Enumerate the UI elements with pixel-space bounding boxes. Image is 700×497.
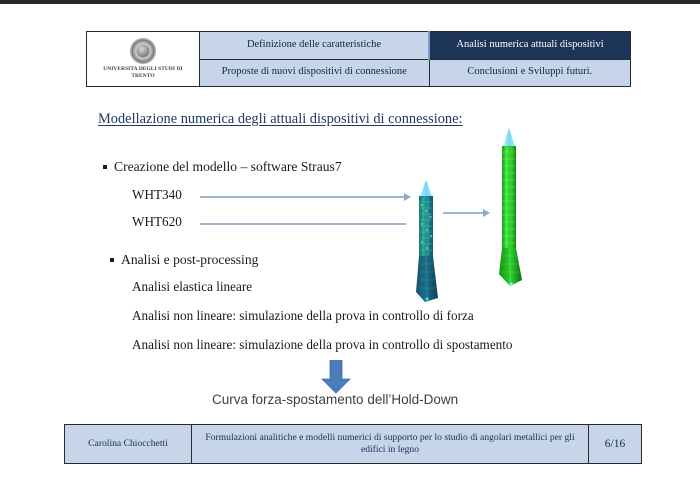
university-logo-cell: UNIVERSITA DEGLI STUDI DI TRENTO — [87, 32, 200, 87]
fem-model-wht340-image — [406, 180, 450, 302]
slide-title: Modellazione numerica degli attuali disp… — [98, 111, 462, 128]
section-nav-table: UNIVERSITA DEGLI STUDI DI TRENTO Definiz… — [86, 31, 631, 87]
footer-page-number: 6/16 — [589, 425, 642, 464]
bullet-analisi-post-processing: Analisi e post-processing — [110, 252, 258, 268]
line-analisi-non-lineare-forza: Analisi non lineare: simulazione della p… — [132, 308, 474, 324]
bullet-label: Analisi e post-processing — [121, 252, 258, 267]
tab-proposte-nuovi-dispositivi[interactable]: Proposte di nuovi dispositivi di conness… — [200, 59, 430, 87]
tab-definizione-caratteristiche[interactable]: Definizione delle caratteristiche — [200, 32, 430, 60]
square-bullet-icon — [103, 165, 107, 169]
footer-author: Carolina Chiocchetti — [65, 425, 192, 464]
connector-line-wht620 — [200, 223, 406, 225]
conclusion-text: Curva forza-spostamento dell’Hold-Down — [212, 392, 458, 407]
slide-canvas: UNIVERSITA DEGLI STUDI DI TRENTO Definiz… — [0, 0, 700, 497]
connector-line-wht340 — [200, 196, 406, 198]
label-wht340: WHT340 — [132, 187, 182, 203]
label-wht620: WHT620 — [132, 214, 182, 230]
bullet-label: Creazione del modello – software Straus7 — [114, 159, 342, 174]
footer-thesis-title: Formulazioni analitiche e modelli numeri… — [192, 425, 589, 464]
tab-analisi-numerica-attuali-dispositivi[interactable]: Analisi numerica attuali dispositivi — [429, 32, 631, 60]
line-analisi-non-lineare-spostamento: Analisi non lineare: simulazione della p… — [132, 337, 513, 353]
down-arrow-icon — [319, 360, 353, 394]
university-seal-icon — [130, 38, 156, 64]
line-analisi-elastica-lineare: Analisi elastica lineare — [132, 279, 252, 295]
fem-model-wht620-image — [488, 128, 536, 288]
university-name-line2: TRENTO — [131, 73, 154, 80]
footer-bar: Carolina Chiocchetti Formulazioni analit… — [64, 424, 642, 464]
top-edge-bar — [0, 0, 700, 4]
bullet-creazione-modello: Creazione del modello – software Straus7 — [103, 159, 342, 175]
square-bullet-icon — [110, 258, 114, 262]
tab-conclusioni-sviluppi-futuri[interactable]: Conclusioni e Sviluppi futuri. — [429, 59, 631, 87]
university-name-line1: UNIVERSITA DEGLI STUDI DI — [103, 66, 183, 73]
